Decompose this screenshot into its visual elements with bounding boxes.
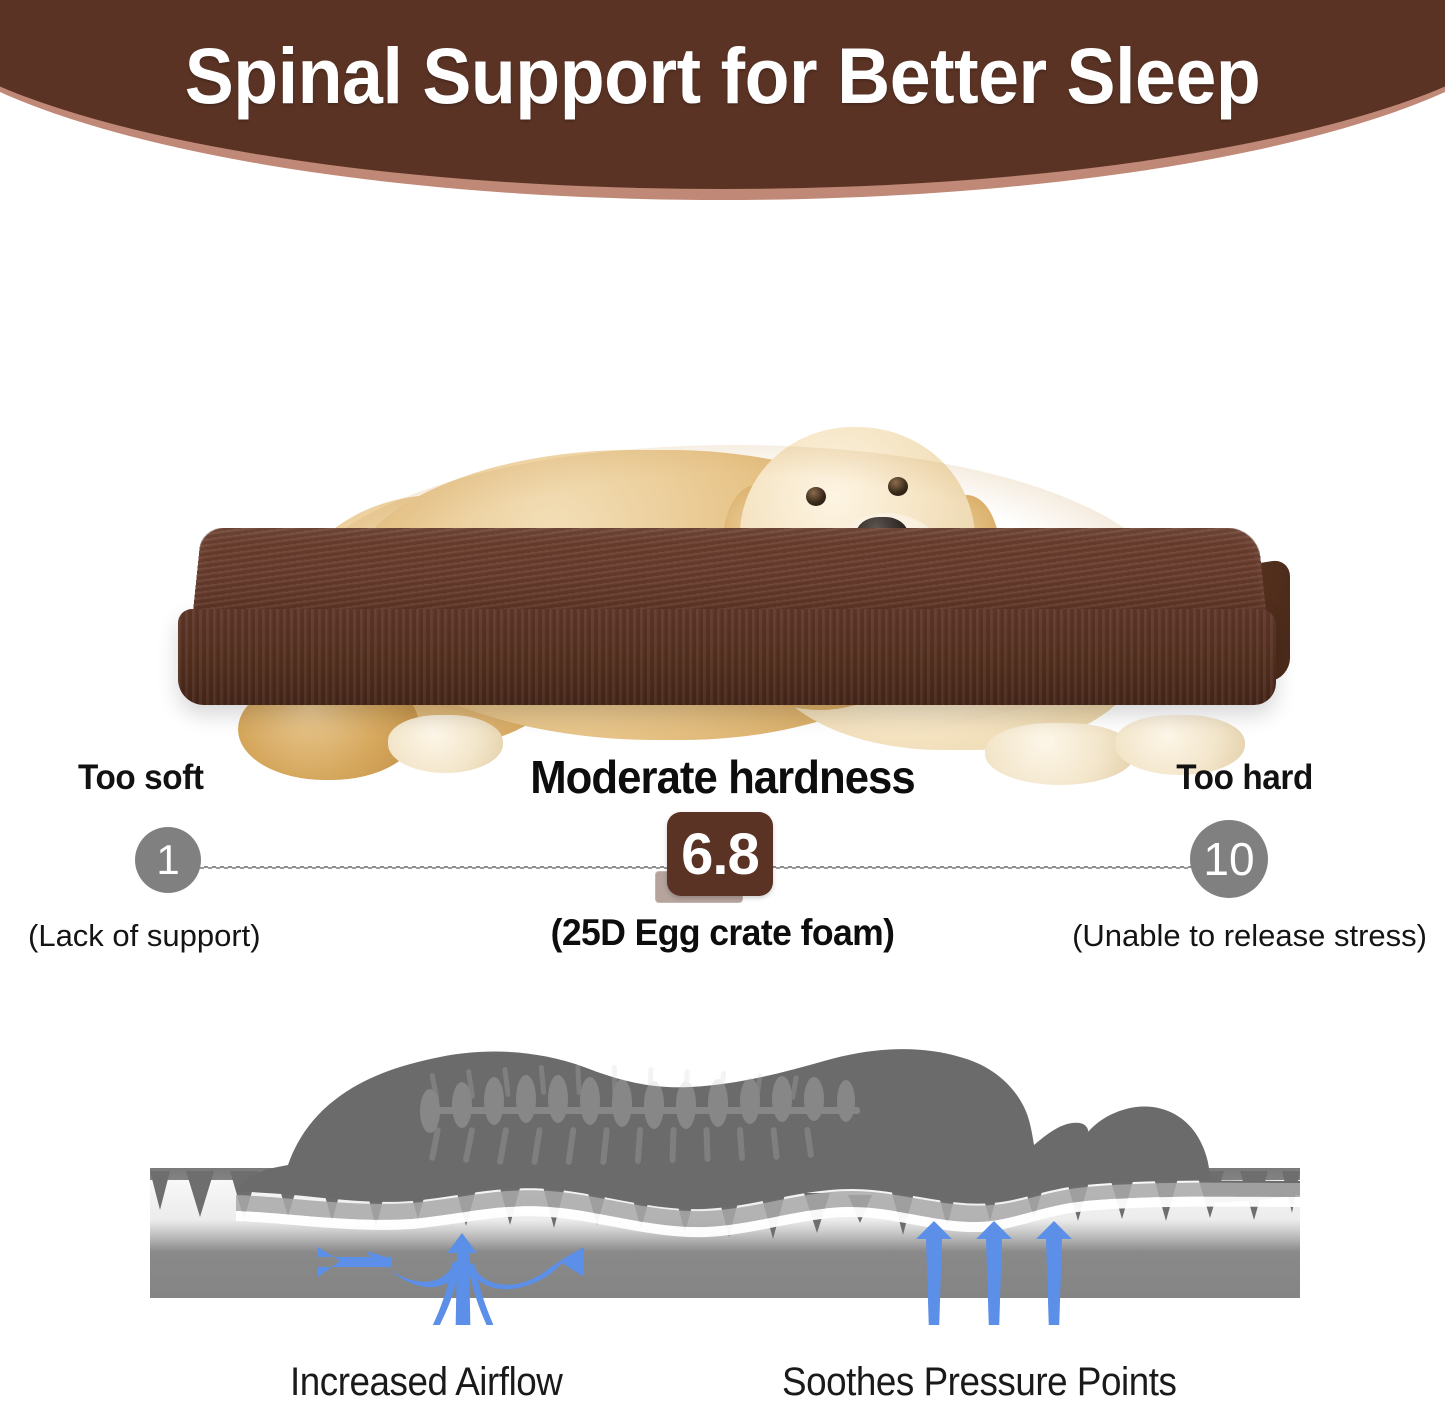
dog-eye-right [888,477,908,496]
page-title: Spinal Support for Better Sleep [51,36,1395,115]
bed-top-surface [192,528,1267,621]
header-banner: Spinal Support for Better Sleep [0,0,1445,215]
caption-airflow: Increased Airflow [290,1360,562,1405]
hardness-value-badge: 6.8 [667,812,773,896]
foam-cross-section-diagram [0,995,1445,1325]
scale-endpoint-max: 10 [1190,820,1268,898]
scale-endpoint-min: 1 [135,827,201,893]
dog-eye-left [806,487,826,506]
product-photo: OhGeni [0,195,1445,760]
scale-sub-hard: (Unable to release stress) [1072,918,1427,954]
caption-pressure: Soothes Pressure Points [782,1360,1176,1405]
bed-front-panel [178,609,1276,705]
pressure-arrows [916,1221,1072,1325]
dog-bed [170,525,1280,725]
scale-label-hard: Too hard [1176,758,1313,798]
